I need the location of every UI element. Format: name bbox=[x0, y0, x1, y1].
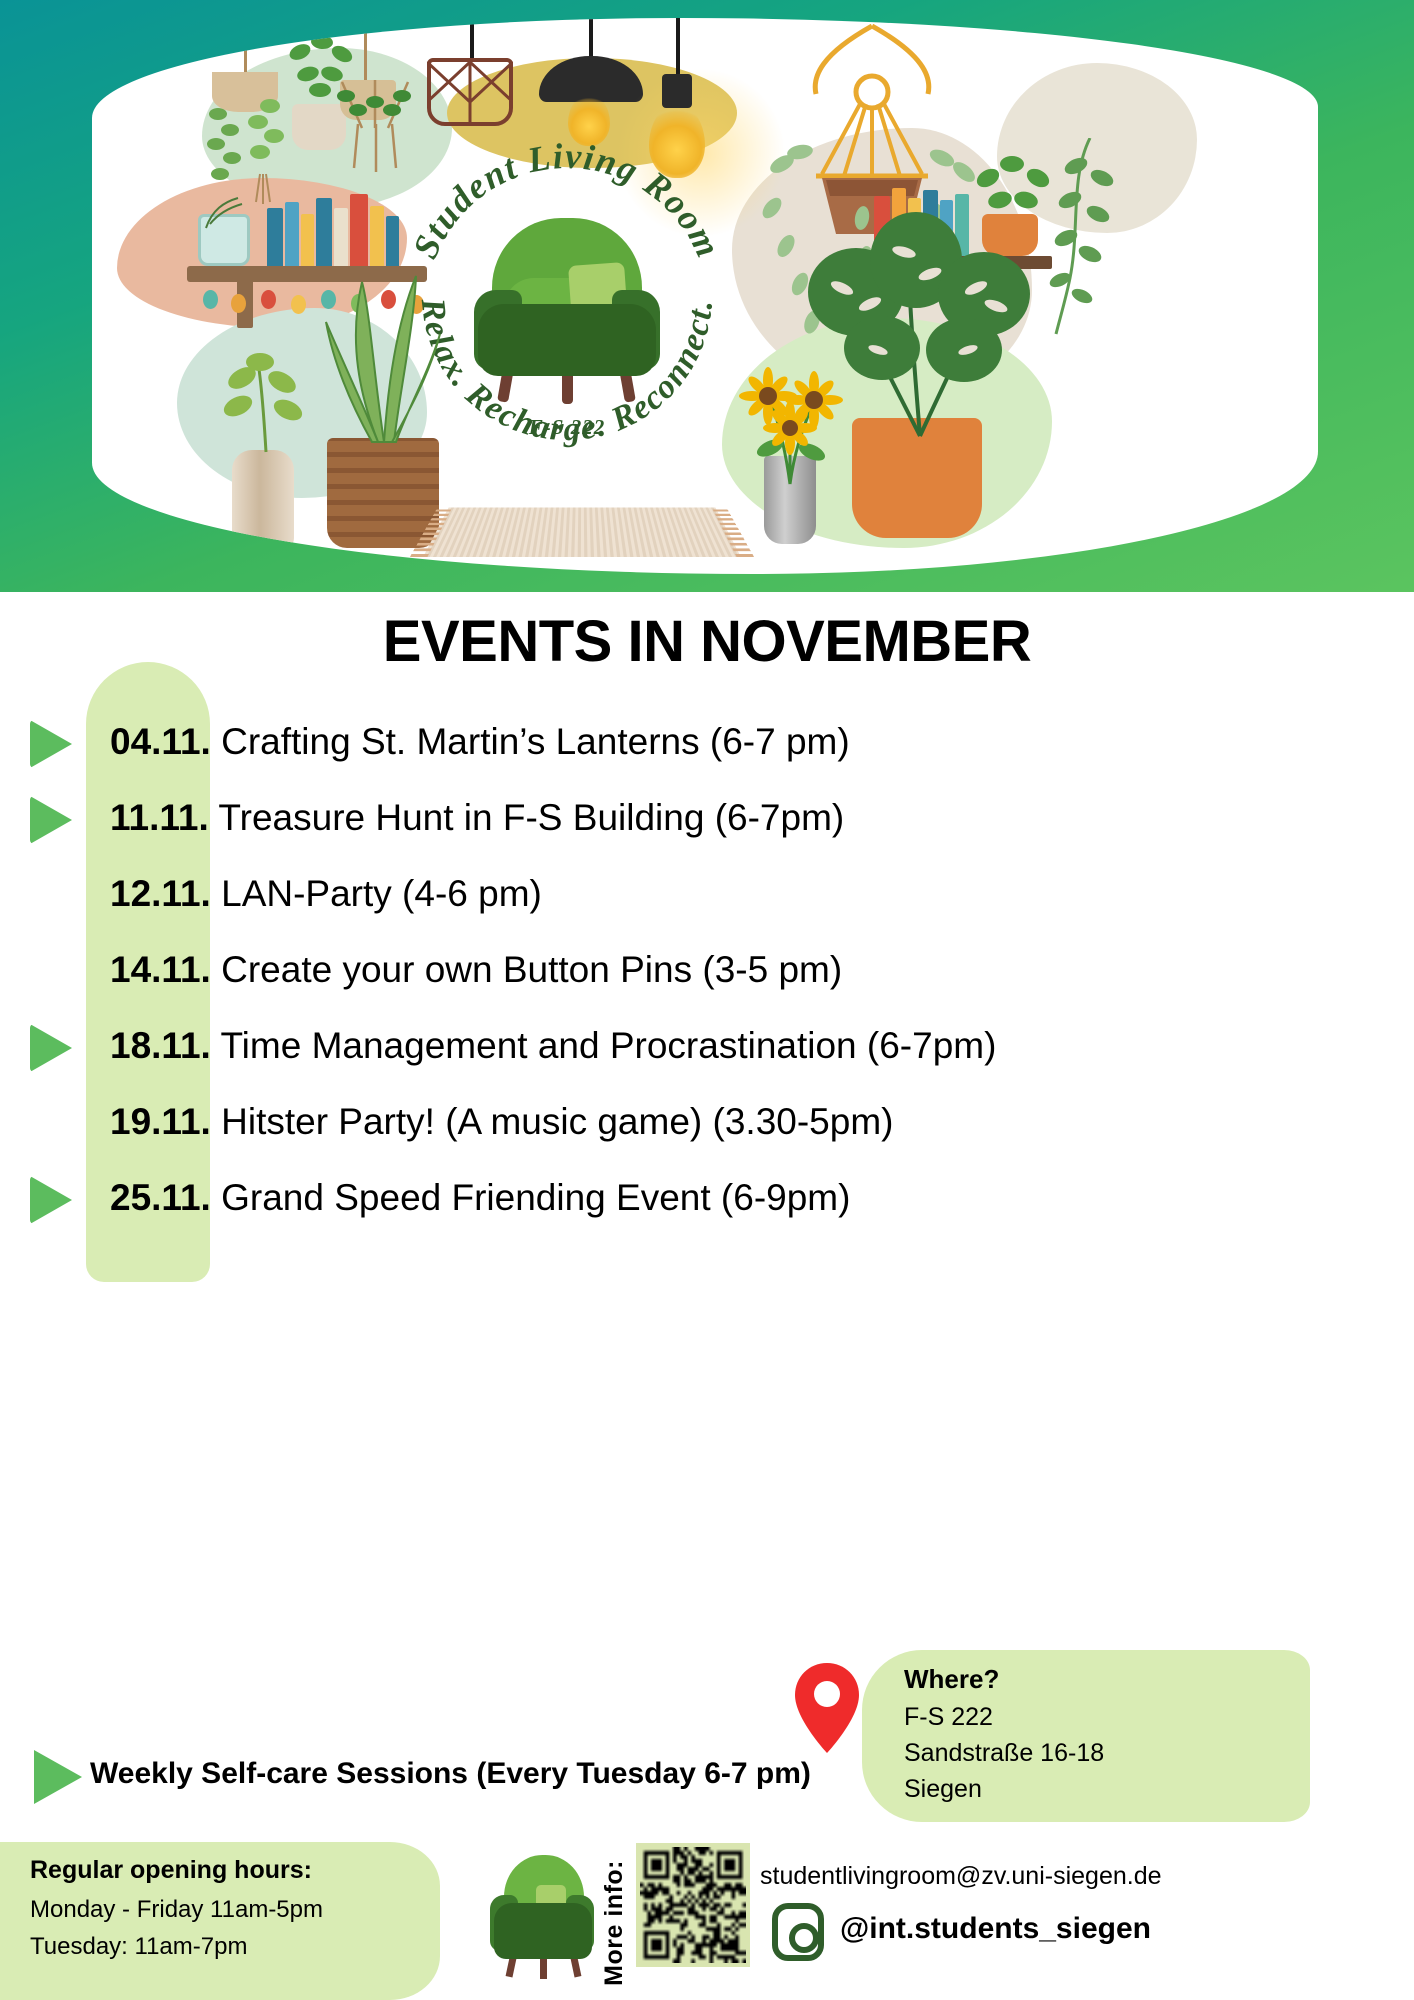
page-title: EVENTS IN NOVEMBER bbox=[0, 608, 1414, 675]
weekly-selfcare-text: Weekly Self-care Sessions (Every Tuesday… bbox=[90, 1757, 811, 1791]
qr-code-canvas bbox=[640, 1847, 746, 1963]
event-text: 18.11. Time Management and Procrastinati… bbox=[110, 1016, 996, 1076]
event-row: 25.11. Grand Speed Friending Event (6-9p… bbox=[0, 1162, 1414, 1238]
location-pin-icon bbox=[795, 1663, 859, 1753]
event-name: Create your own Button Pins (3-5 pm) bbox=[211, 949, 842, 990]
armchair-logo-icon bbox=[470, 218, 665, 403]
weekly-selfcare-arrow-icon bbox=[34, 1750, 82, 1804]
event-text: 19.11. Hitster Party! (A music game) (3.… bbox=[110, 1092, 893, 1152]
event-row: 19.11. Hitster Party! (A music game) (3.… bbox=[0, 1086, 1414, 1162]
opening-hours-content: Regular opening hours: Monday - Friday 1… bbox=[30, 1856, 460, 1965]
instagram-handle[interactable]: @int.students_siegen bbox=[840, 1912, 1151, 1946]
event-date: 12.11. bbox=[110, 873, 211, 914]
contact-email[interactable]: studentlivingroom@zv.uni-siegen.de bbox=[760, 1862, 1162, 1891]
event-date: 14.11. bbox=[110, 949, 211, 990]
event-text: 04.11. Crafting St. Martin’s Lanterns (6… bbox=[110, 712, 850, 772]
header-banner: Student Living Room Relax. Recharge. Rec… bbox=[0, 0, 1414, 592]
where-line-3: Siegen bbox=[904, 1771, 1324, 1807]
rug-icon bbox=[423, 507, 741, 557]
event-arrow-icon bbox=[30, 1024, 72, 1072]
event-row: 14.11. Create your own Button Pins (3-5 … bbox=[0, 934, 1414, 1010]
qr-code[interactable] bbox=[636, 1843, 750, 1967]
event-text: 14.11. Create your own Button Pins (3-5 … bbox=[110, 940, 842, 1000]
event-name: Treasure Hunt in F-S Building (6-7pm) bbox=[209, 797, 844, 838]
event-arrow-icon bbox=[30, 720, 72, 768]
event-row: 11.11. Treasure Hunt in F-S Building (6-… bbox=[0, 782, 1414, 858]
vine-decor-icon bbox=[1040, 138, 1150, 338]
event-date: 25.11. bbox=[110, 1177, 211, 1218]
event-name: Hitster Party! (A music game) (3.30-5pm) bbox=[211, 1101, 894, 1142]
where-line-2: Sandstraße 16-18 bbox=[904, 1735, 1324, 1771]
event-text: 12.11. LAN-Party (4-6 pm) bbox=[110, 864, 542, 924]
event-name: LAN-Party (4-6 pm) bbox=[211, 873, 542, 914]
event-text: 25.11. Grand Speed Friending Event (6-9p… bbox=[110, 1168, 850, 1228]
event-row: 04.11. Crafting St. Martin’s Lanterns (6… bbox=[0, 706, 1414, 782]
opening-hours-line-2: Tuesday: 11am-7pm bbox=[30, 1928, 460, 1965]
event-name: Grand Speed Friending Event (6-9pm) bbox=[211, 1177, 851, 1218]
event-date: 19.11. bbox=[110, 1101, 211, 1142]
event-name: Crafting St. Martin’s Lanterns (6-7 pm) bbox=[211, 721, 850, 762]
event-date: 18.11. bbox=[110, 1025, 211, 1066]
event-list: 04.11. Crafting St. Martin’s Lanterns (6… bbox=[0, 706, 1414, 1238]
event-date: 11.11. bbox=[110, 797, 209, 838]
where-content: Where? F-S 222 Sandstraße 16-18 Siegen bbox=[904, 1664, 1324, 1807]
where-title: Where? bbox=[904, 1664, 1324, 1695]
header-illustration-card: Student Living Room Relax. Recharge. Rec… bbox=[92, 18, 1318, 574]
event-name: Time Management and Procrastination (6-7… bbox=[211, 1025, 997, 1066]
where-line-1: F-S 222 bbox=[904, 1699, 1324, 1735]
event-arrow-icon bbox=[30, 796, 72, 844]
event-arrow-icon bbox=[30, 1176, 72, 1224]
opening-hours-line-1: Monday - Friday 11am-5pm bbox=[30, 1891, 460, 1928]
event-date: 04.11. bbox=[110, 721, 211, 762]
event-row: 12.11. LAN-Party (4-6 pm) bbox=[0, 858, 1414, 934]
footer-armchair-icon bbox=[488, 1855, 596, 1985]
event-text: 11.11. Treasure Hunt in F-S Building (6-… bbox=[110, 788, 844, 848]
more-info-label: More info: bbox=[600, 1860, 634, 1986]
opening-hours-title: Regular opening hours: bbox=[30, 1856, 460, 1885]
event-row: 18.11. Time Management and Procrastinati… bbox=[0, 1010, 1414, 1086]
instagram-icon[interactable] bbox=[772, 1903, 824, 1961]
